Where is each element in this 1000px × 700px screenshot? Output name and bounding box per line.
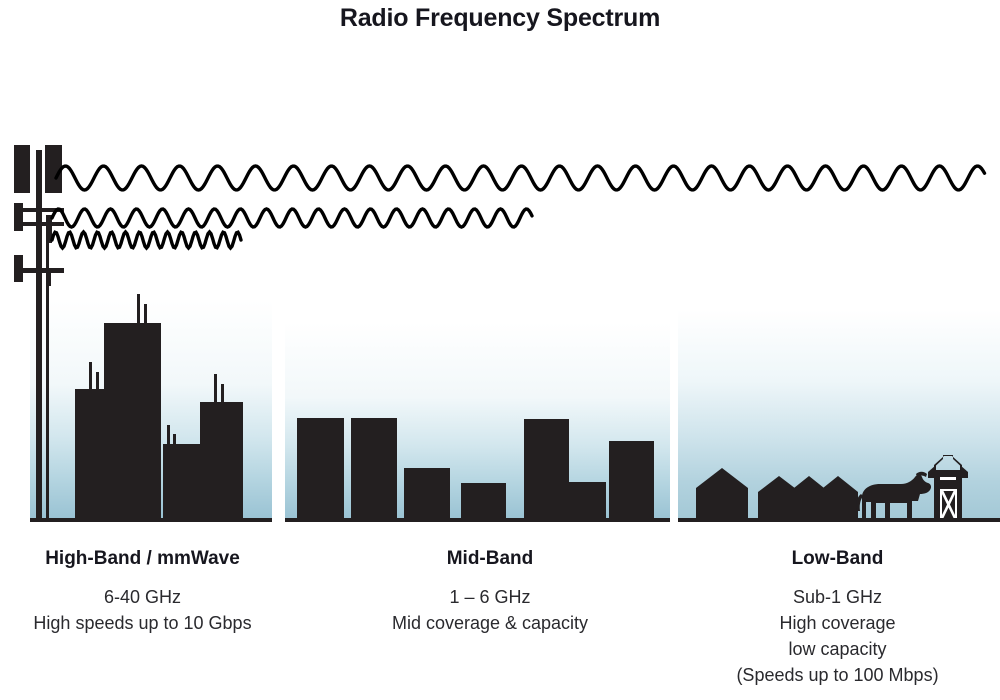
band-caption-mid: Mid-Band 1 – 6 GHz Mid coverage & capaci…	[345, 548, 635, 636]
tower-crossarm	[22, 222, 64, 226]
radio-waves	[52, 166, 985, 248]
antenna-panel	[14, 255, 23, 282]
antenna-panel	[14, 145, 30, 193]
antenna-spire	[144, 304, 147, 326]
barn-vent-window	[940, 477, 956, 480]
band-caption-high: High-Band / mmWave 6-40 GHz High speeds …	[0, 548, 285, 636]
band-detail: High speeds up to 10 Gbps	[0, 610, 285, 636]
antenna-spire	[173, 434, 176, 447]
antenna-spire	[167, 425, 170, 447]
band-caption-low: Low-Band Sub-1 GHz High coverage low cap…	[675, 548, 1000, 688]
wave-low-frequency	[56, 166, 985, 190]
band-title: High-Band / mmWave	[0, 548, 285, 570]
band-frequency: 1 – 6 GHz	[345, 584, 635, 610]
building	[297, 418, 344, 520]
panel-low-band	[678, 310, 1000, 522]
wave-high-frequency	[52, 232, 241, 248]
building	[524, 419, 569, 520]
band-frequency: 6-40 GHz	[0, 584, 285, 610]
antenna-spire	[214, 374, 217, 405]
band-detail: Mid coverage & capacity	[345, 610, 635, 636]
building	[404, 468, 450, 520]
band-detail: High coverage	[675, 610, 1000, 636]
band-detail: (Speeds up to 100 Mbps)	[675, 662, 1000, 688]
wave-mid-frequency	[52, 209, 532, 227]
band-title: Low-Band	[675, 548, 1000, 570]
building	[609, 441, 654, 520]
antenna-spire	[96, 372, 99, 392]
antenna-spire	[221, 384, 224, 405]
building	[461, 483, 506, 520]
band-title: Mid-Band	[345, 548, 635, 570]
panel-high-band	[30, 294, 272, 522]
building	[200, 402, 243, 520]
tower-crossarm	[22, 268, 64, 273]
antenna-panel	[14, 203, 23, 231]
antenna-panel	[46, 270, 51, 286]
band-frequency: Sub-1 GHz	[675, 584, 1000, 610]
tower-mast	[36, 150, 42, 522]
ground-line-low	[678, 518, 1000, 522]
band-detail: low capacity	[675, 636, 1000, 662]
building	[351, 418, 397, 520]
building	[569, 482, 606, 520]
panel-mid-band	[285, 322, 670, 522]
antenna-spire	[137, 294, 140, 326]
ground-line-mid	[285, 518, 670, 522]
ground-line-high	[30, 518, 272, 522]
building	[104, 323, 161, 520]
building	[163, 444, 204, 520]
antenna-spire	[89, 362, 92, 392]
